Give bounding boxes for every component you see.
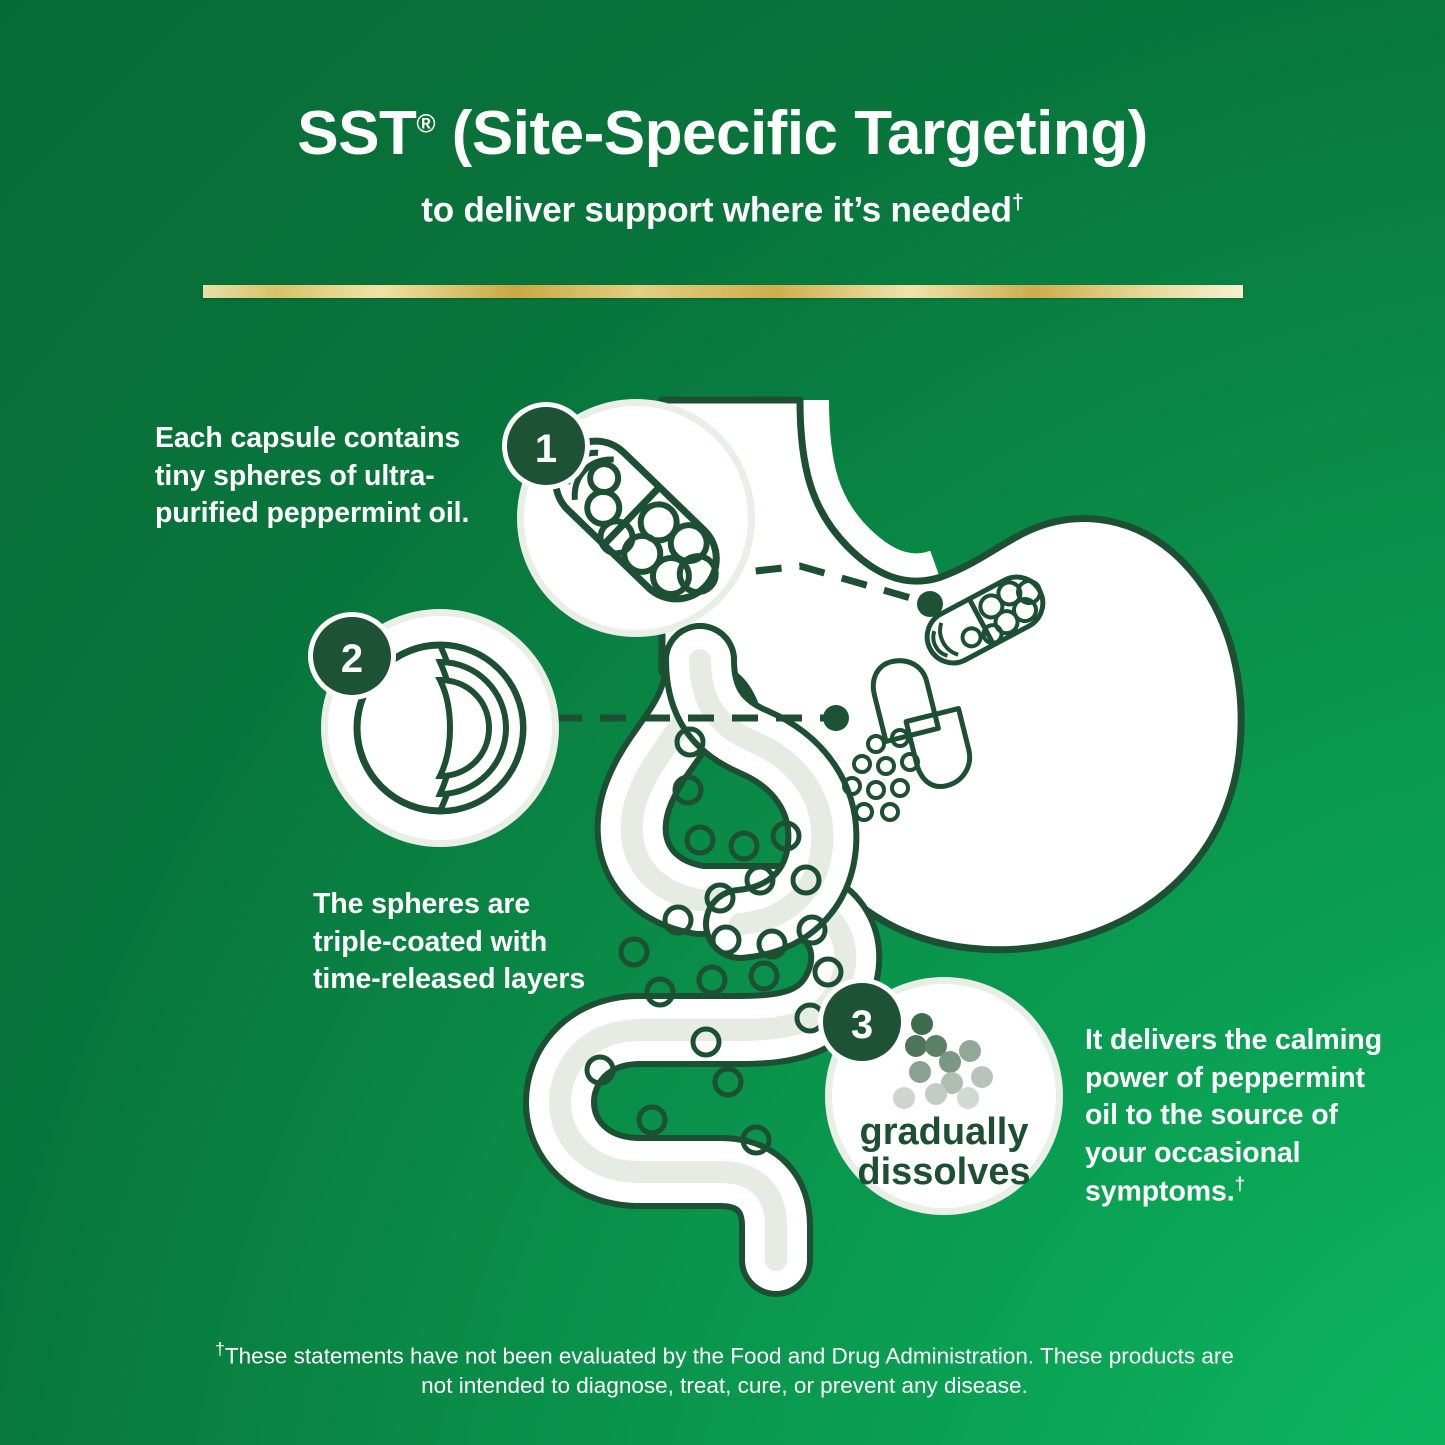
step-2-description: The spheres are triple-coated with time-… <box>313 886 613 999</box>
step-2-number: 2 <box>341 637 363 681</box>
footnote: †These statements have not been evaluate… <box>212 1338 1237 1401</box>
dagger-icon-step-3: † <box>1235 1173 1245 1194</box>
step-1-description: Each capsule contains tiny spheres of ul… <box>155 420 485 533</box>
step-3-label-line-1: gradually <box>860 1111 1029 1153</box>
digestive-system-diagram: 1 2 <box>0 0 1445 1445</box>
step-3-description: It delivers the calming power of pepperm… <box>1085 1022 1405 1212</box>
step-3-label-line-2: dissolves <box>857 1151 1030 1193</box>
step-1-number: 1 <box>535 427 557 471</box>
footnote-dagger-icon: † <box>215 1339 225 1359</box>
step-3-number: 3 <box>851 1003 873 1047</box>
step-1-callout-circle: 1 <box>502 399 755 637</box>
footnote-line-1: These statements have not been evaluated… <box>225 1344 1103 1369</box>
infographic-root: SST® (Site-Specific Targeting) to delive… <box>0 0 1445 1445</box>
step-2-callout-circle: 2 <box>308 609 559 847</box>
step-3-callout-circle: gradually dissolves 3 <box>818 977 1063 1215</box>
step-3-description-text: It delivers the calming power of pepperm… <box>1085 1024 1382 1208</box>
connector-dot-2 <box>823 705 849 731</box>
